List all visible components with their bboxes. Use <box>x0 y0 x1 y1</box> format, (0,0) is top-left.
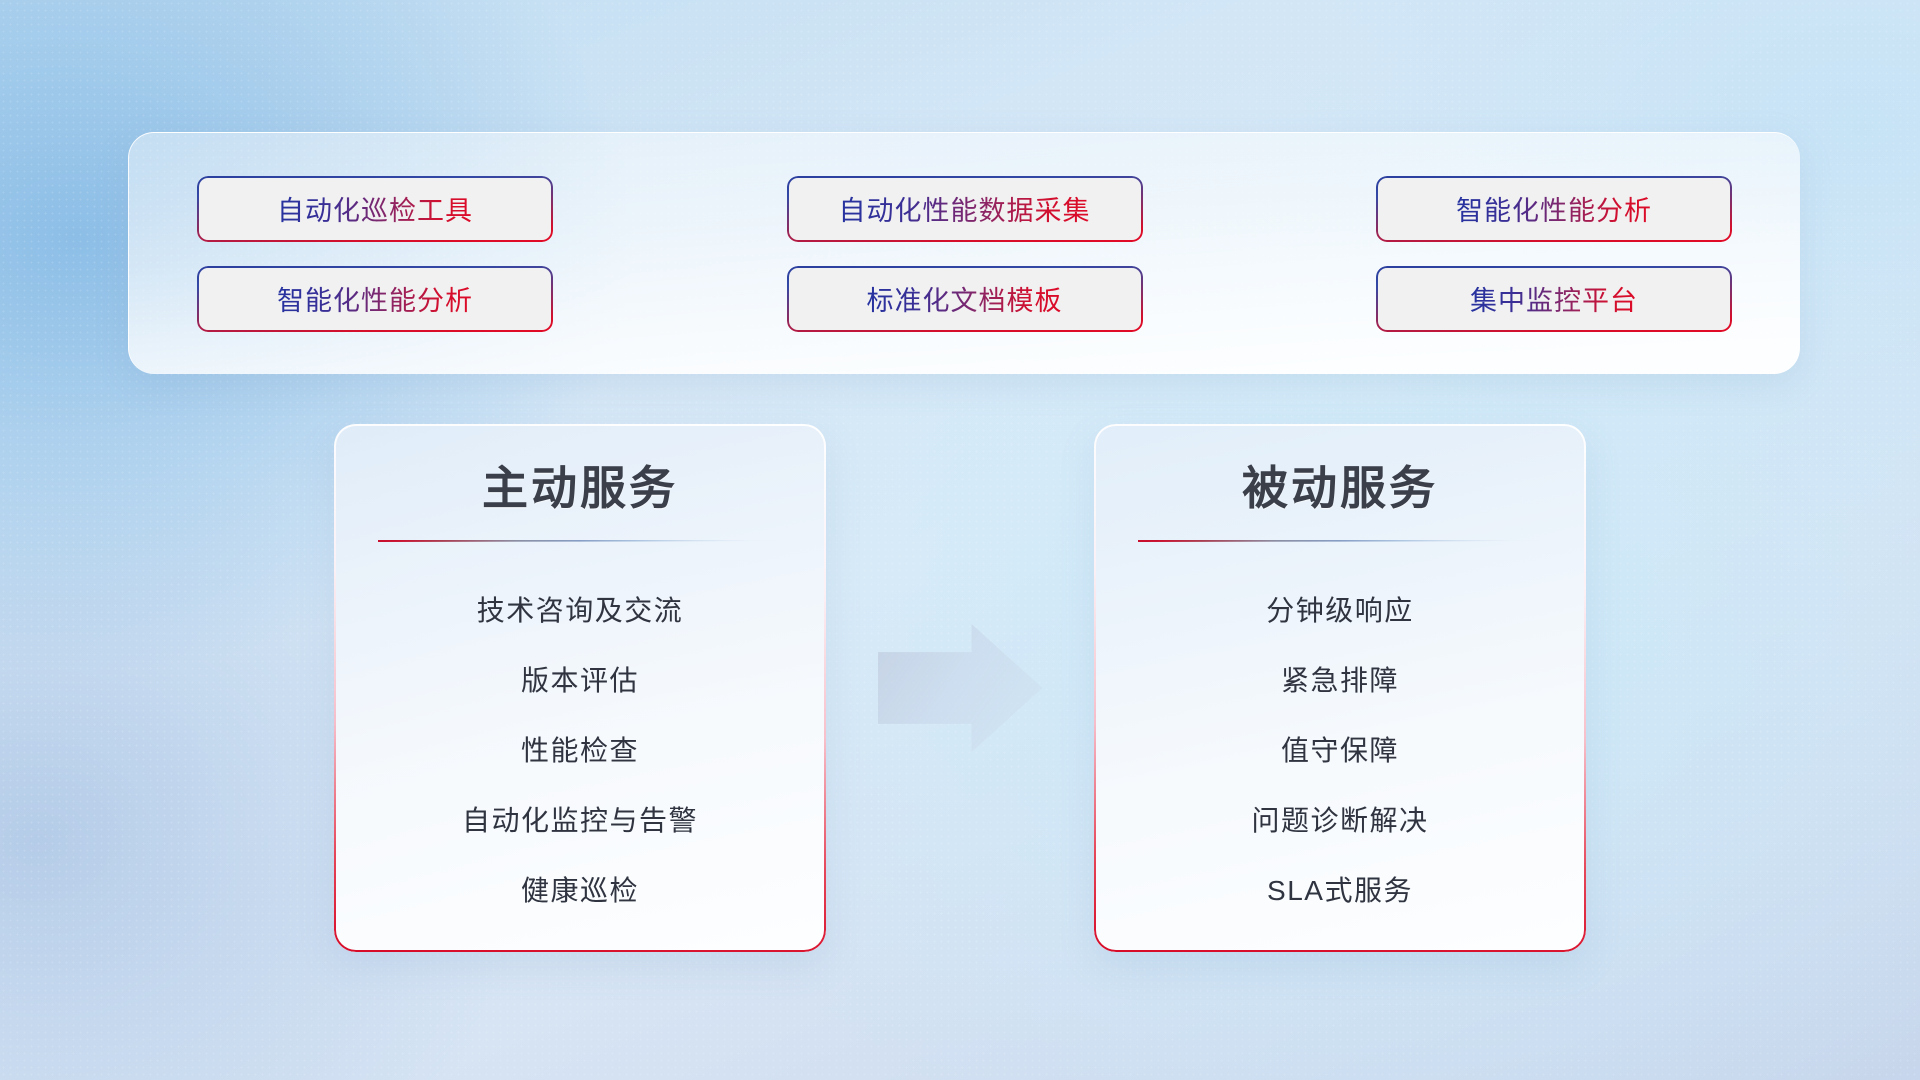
capability-tag-panel: 自动化巡检工具 自动化性能数据采集 智能化性能分析 智能化性能分析 标准化文档模… <box>128 132 1800 374</box>
service-cards-area: 主动服务 技术咨询及交流 版本评估 性能检查 自动化监控与告警 健康巡检 被动服… <box>0 424 1920 954</box>
service-list-item: 自动化监控与告警 <box>368 786 792 856</box>
service-item-list: 技术咨询及交流 版本评估 性能检查 自动化监控与告警 健康巡检 <box>368 576 792 926</box>
service-list-item: 值守保障 <box>1128 716 1552 786</box>
capability-tag[interactable]: 标准化文档模板 <box>787 266 1143 332</box>
tag-row-2: 智能化性能分析 标准化文档模板 集中监控平台 <box>197 266 1732 332</box>
service-list-item: 紧急排障 <box>1128 646 1552 716</box>
capability-tag[interactable]: 智能化性能分析 <box>197 266 553 332</box>
service-list-item: 版本评估 <box>368 646 792 716</box>
service-list-item: 问题诊断解决 <box>1128 786 1552 856</box>
capability-tag-label: 智能化性能分析 <box>277 279 473 318</box>
capability-tag[interactable]: 智能化性能分析 <box>1376 176 1732 242</box>
arrow-right-icon <box>878 624 1043 752</box>
service-card-title: 被动服务 <box>1242 460 1438 518</box>
capability-tag[interactable]: 自动化巡检工具 <box>197 176 553 242</box>
service-list-item: 分钟级响应 <box>1128 576 1552 646</box>
service-list-item: 技术咨询及交流 <box>368 576 792 646</box>
capability-tag[interactable]: 集中监控平台 <box>1376 266 1732 332</box>
flow-arrow-container <box>826 424 1094 952</box>
capability-tag-label: 标准化文档模板 <box>867 279 1063 318</box>
service-list-item: SLA式服务 <box>1128 856 1552 926</box>
service-item-list: 分钟级响应 紧急排障 值守保障 问题诊断解决 SLA式服务 <box>1128 576 1552 926</box>
service-card-title: 主动服务 <box>482 460 678 518</box>
capability-tag-label: 自动化巡检工具 <box>277 189 473 228</box>
service-list-item: 健康巡检 <box>368 856 792 926</box>
tag-row-1: 自动化巡检工具 自动化性能数据采集 智能化性能分析 <box>197 176 1732 242</box>
service-card-proactive[interactable]: 主动服务 技术咨询及交流 版本评估 性能检查 自动化监控与告警 健康巡检 <box>334 424 826 952</box>
title-divider <box>1138 540 1542 543</box>
title-divider <box>378 540 782 543</box>
capability-tag-label: 智能化性能分析 <box>1456 189 1652 228</box>
service-list-item: 性能检查 <box>368 716 792 786</box>
capability-tag[interactable]: 自动化性能数据采集 <box>787 176 1143 242</box>
capability-tag-label: 自动化性能数据采集 <box>839 189 1091 228</box>
infographic-canvas: 自动化巡检工具 自动化性能数据采集 智能化性能分析 智能化性能分析 标准化文档模… <box>0 0 1920 1080</box>
service-card-reactive[interactable]: 被动服务 分钟级响应 紧急排障 值守保障 问题诊断解决 SLA式服务 <box>1094 424 1586 952</box>
capability-tag-label: 集中监控平台 <box>1470 279 1638 318</box>
